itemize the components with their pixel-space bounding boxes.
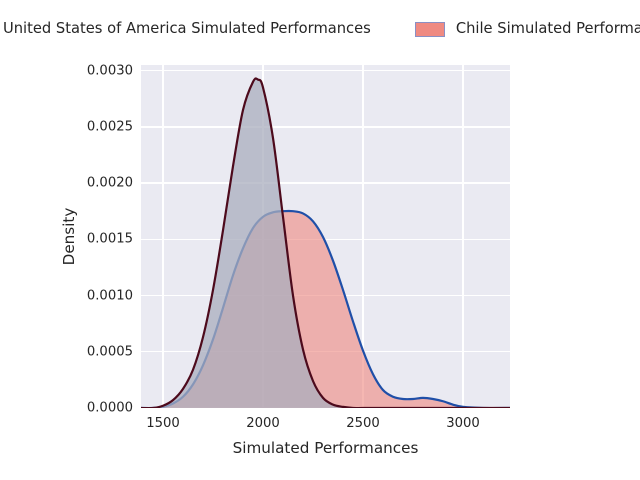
- y-tick-label: 0.0015: [33, 233, 133, 246]
- x-tick-label: 2000: [246, 417, 280, 430]
- x-tick-label: 2500: [346, 417, 380, 430]
- kde-density-chart: United States of America Simulated Perfo…: [0, 0, 640, 480]
- x-tick-label: 3000: [446, 417, 480, 430]
- x-tick-label: 1500: [146, 417, 180, 430]
- y-tick-label: 0.0010: [33, 289, 133, 302]
- legend-entry-chile[interactable]: Chile Simulated Performances: [415, 14, 640, 44]
- legend-entry-usa[interactable]: United States of America Simulated Perfo…: [0, 14, 371, 44]
- y-axis-label: Density: [62, 65, 77, 408]
- y-axis-tick-labels: 0.00000.00050.00100.00150.00200.00250.00…: [29, 65, 133, 408]
- legend-swatch-chile: [415, 22, 445, 37]
- y-tick-label: 0.0030: [33, 64, 133, 77]
- legend-label-chile: Chile Simulated Performances: [456, 22, 640, 37]
- x-axis-tick-labels: 1500200025003000: [141, 417, 510, 437]
- y-tick-label: 0.0005: [33, 345, 133, 358]
- y-tick-label: 0.0000: [33, 401, 133, 414]
- chart-legend: United States of America Simulated Perfo…: [0, 14, 640, 44]
- x-axis-label: Simulated Performances: [141, 441, 510, 456]
- y-tick-label: 0.0020: [33, 176, 133, 189]
- legend-label-usa: United States of America Simulated Perfo…: [3, 22, 371, 37]
- density-curves: [141, 65, 510, 408]
- plot-area: [141, 65, 510, 408]
- y-tick-label: 0.0025: [33, 120, 133, 133]
